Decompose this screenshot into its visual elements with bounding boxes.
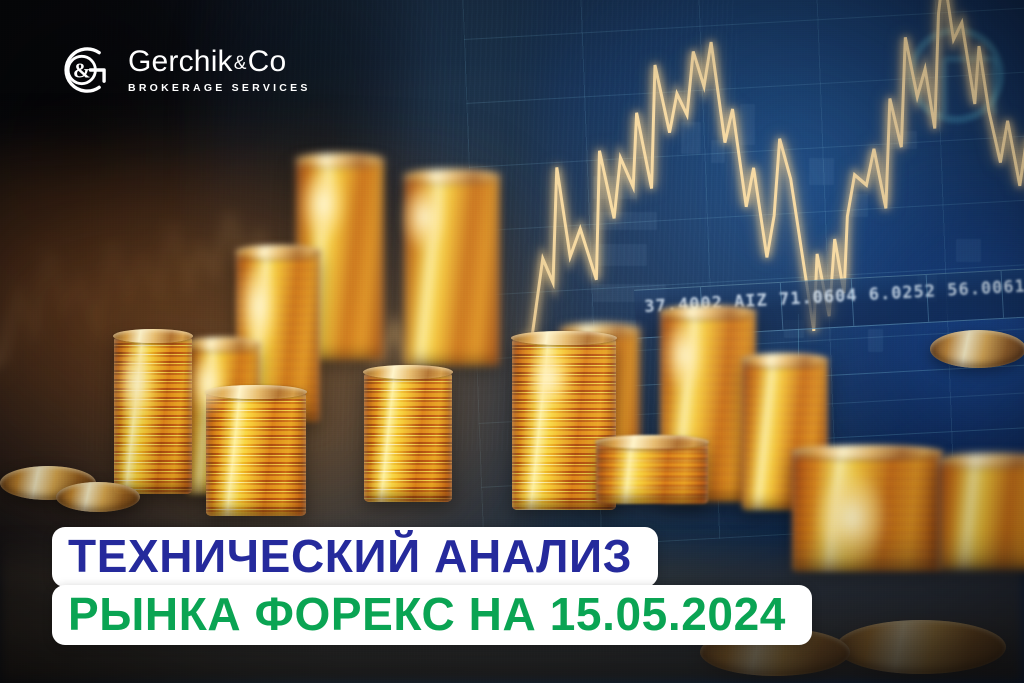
- title-banner: ТЕХНИЧЕСКИЙ АНАЛИЗ РЫНКА ФОРЕКС НА 15.05…: [52, 527, 812, 645]
- brand-name: Gerchik&Co: [128, 46, 311, 77]
- title-line-2: РЫНКА ФОРЕКС НА 15.05.2024: [52, 585, 812, 645]
- brand-ampersand: &: [233, 53, 248, 74]
- svg-text:&: &: [73, 58, 91, 82]
- promo-banner: 37.4002 AIZ 71.0604 6.0252 56.0061 180 2…: [0, 0, 1024, 683]
- brand-tagline: BROKERAGE SERVICES: [128, 82, 311, 94]
- title-line-1: ТЕХНИЧЕСКИЙ АНАЛИЗ: [52, 527, 658, 587]
- brand-name-suffix: Co: [248, 45, 287, 78]
- brand-logo[interactable]: & Gerchik&Co BROKERAGE SERVICES: [52, 39, 311, 101]
- brand-wordmark: Gerchik&Co BROKERAGE SERVICES: [128, 46, 311, 94]
- brand-name-main: Gerchik: [128, 45, 233, 78]
- gerchik-co-monogram-icon: &: [52, 39, 114, 101]
